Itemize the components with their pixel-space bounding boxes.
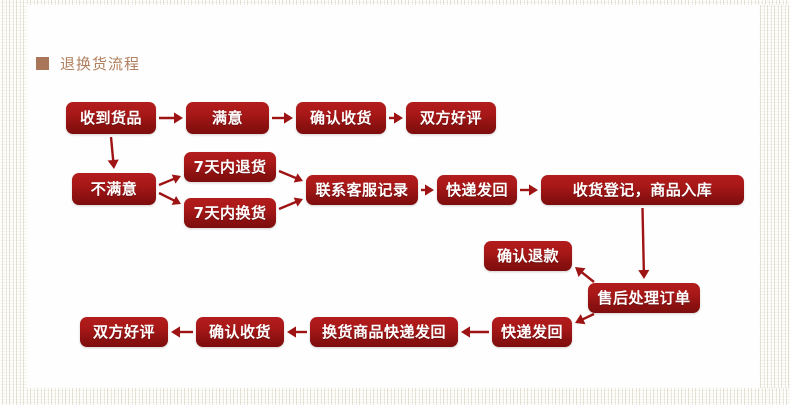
linen-texture-bottom — [0, 388, 790, 405]
flow-node-n6: 7天内退货 — [184, 152, 276, 182]
arrow-shaft — [582, 314, 594, 320]
flow-node-label: 7天内退货 — [194, 160, 267, 175]
arrow-head — [171, 326, 180, 337]
arrow-shaft — [581, 272, 594, 282]
arrow-head — [461, 326, 470, 337]
arrow-head — [294, 173, 303, 182]
flow-node-label: 双方好评 — [93, 325, 155, 340]
flow-node-label: 收到货品 — [80, 111, 142, 126]
arrow-head — [287, 326, 296, 337]
arrow-head — [425, 184, 434, 195]
section-heading-label: 退换货流程 — [60, 53, 140, 74]
flow-node-label: 满意 — [212, 111, 243, 126]
flow-node-label: 7天内换货 — [194, 206, 267, 221]
arrow-shaft — [279, 171, 297, 178]
flow-node-label: 售后处理订单 — [597, 291, 690, 306]
arrow-head — [529, 184, 538, 195]
flow-node-label: 确认收货 — [209, 325, 271, 340]
flow-node-label: 快递发回 — [501, 325, 563, 340]
square-bullet-icon — [36, 57, 49, 70]
arrow-shaft — [111, 137, 113, 161]
arrow-head — [575, 314, 586, 324]
flow-node-n10: 收货登记，商品入库 — [541, 175, 744, 205]
flow-node-label: 联系客服记录 — [315, 183, 408, 198]
arrow-shaft — [279, 202, 297, 209]
linen-texture-left — [0, 0, 27, 405]
arrow-head — [394, 112, 403, 123]
flow-node-n7: 7天内换货 — [184, 198, 276, 228]
flow-node-label: 不满意 — [91, 182, 138, 197]
flow-node-n5: 不满意 — [72, 173, 156, 205]
arrow-head — [174, 112, 183, 123]
linen-texture-right — [758, 0, 790, 405]
arrow-shaft — [159, 179, 175, 185]
arrow-head — [284, 112, 293, 123]
section-heading: 退换货流程 — [36, 53, 140, 74]
arrow-head — [172, 174, 181, 183]
arrow-head — [172, 196, 181, 205]
flow-node-n4: 双方好评 — [406, 102, 496, 134]
flow-node-n8: 联系客服记录 — [306, 175, 418, 205]
arrow-head — [294, 197, 303, 206]
flow-node-label: 换货商品快递发回 — [322, 325, 446, 340]
flow-node-label: 确认退款 — [497, 249, 559, 264]
flow-node-n9: 快递发回 — [437, 175, 517, 205]
flow-node-label: 收货登记，商品入库 — [573, 183, 713, 198]
flow-node-n2: 满意 — [186, 102, 269, 134]
arrow-head — [638, 270, 649, 279]
flow-node-n15: 确认收货 — [196, 317, 284, 347]
flow-node-label: 双方好评 — [420, 111, 482, 126]
arrow-head — [575, 267, 586, 277]
flow-node-n1: 收到货品 — [66, 102, 156, 134]
flow-node-n12: 售后处理订单 — [588, 283, 700, 313]
flowchart-canvas: 退换货流程 收到货品满意确认收货双方好评不满意7天内退货7天内换货联系客服记录快… — [0, 0, 790, 405]
flow-node-label: 确认收货 — [310, 111, 372, 126]
flow-node-n11: 确认退款 — [484, 241, 572, 271]
flow-node-n3: 确认收货 — [296, 102, 386, 134]
linen-texture-top — [0, 0, 790, 5]
arrow-head — [108, 160, 119, 169]
flow-node-n16: 双方好评 — [80, 317, 168, 347]
flow-node-label: 快递发回 — [446, 183, 508, 198]
flow-node-n13: 快递发回 — [492, 317, 572, 347]
arrow-shaft — [643, 208, 644, 271]
flow-node-n14: 换货商品快递发回 — [310, 317, 458, 347]
arrow-shaft — [159, 193, 175, 201]
